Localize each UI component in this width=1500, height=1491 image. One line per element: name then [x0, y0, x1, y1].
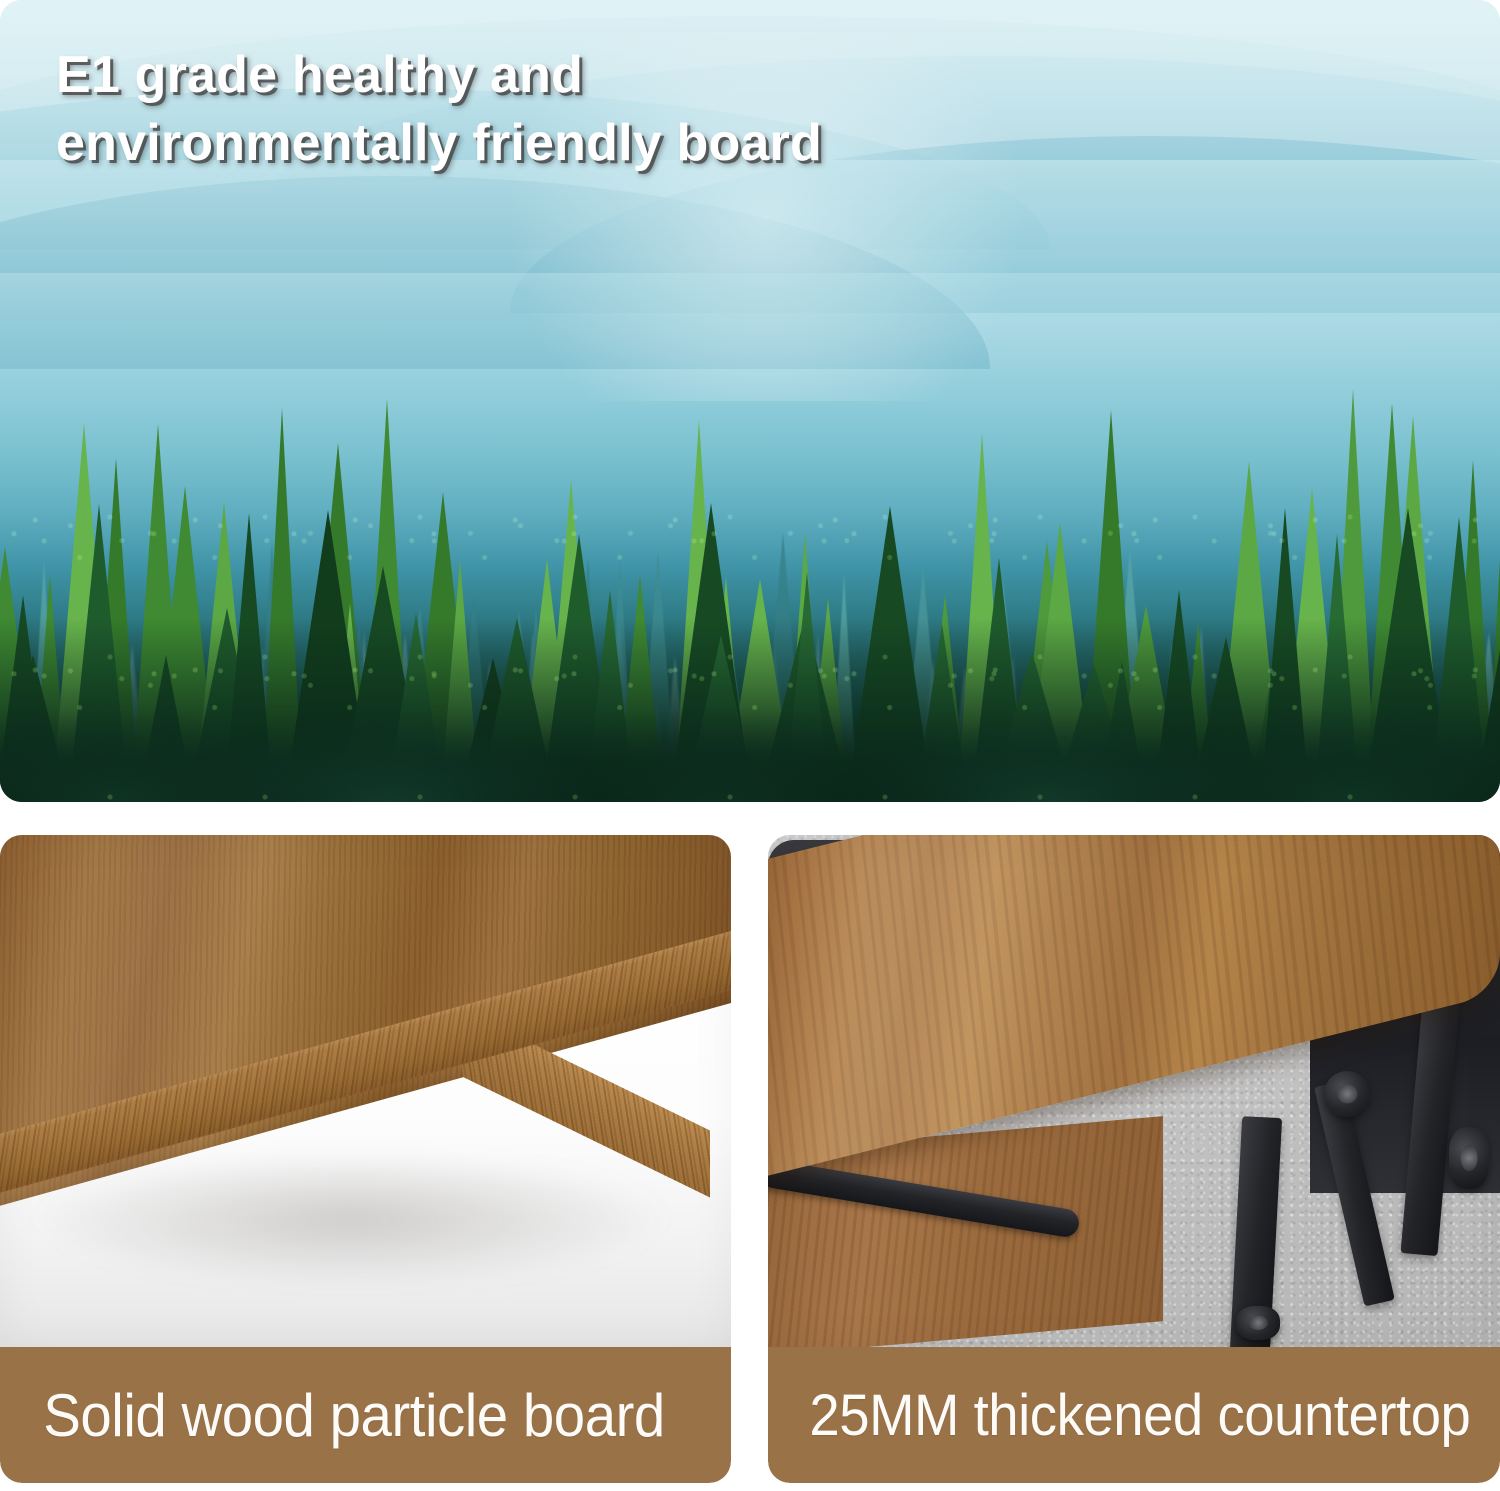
caster-hub-icon — [1249, 1316, 1267, 1330]
caption-bar-left: Solid wood particle board — [0, 1347, 731, 1483]
feature-panels: Solid wood particle board — [0, 835, 1500, 1485]
hero-headline: E1 grade healthy and environmentally fri… — [56, 42, 1116, 177]
caster-wheel-right — [1449, 1127, 1489, 1189]
caster-wheel-front — [1236, 1306, 1280, 1340]
caster-hub-icon — [1338, 1084, 1357, 1103]
product-feature-board: E1 grade healthy and environmentally fri… — [0, 0, 1500, 1491]
caption-text-left: Solid wood particle board — [0, 1381, 665, 1450]
board-scene-background — [0, 835, 731, 1347]
desk-scene-background — [768, 835, 1500, 1347]
wood-board-photo — [0, 835, 731, 1347]
desk-photo — [768, 835, 1500, 1347]
caption-text-right: 25MM thickened countertop — [768, 1382, 1470, 1449]
panel-thickened-countertop: 25MM thickened countertop — [768, 835, 1500, 1483]
caster-wheel-center — [1324, 1071, 1370, 1117]
caster-hub-icon — [1460, 1145, 1477, 1171]
forest-hero-image: E1 grade healthy and environmentally fri… — [0, 0, 1500, 802]
forest-floor — [0, 618, 1500, 802]
caption-bar-right: 25MM thickened countertop — [768, 1347, 1500, 1483]
panel-solid-wood-particle-board: Solid wood particle board — [0, 835, 731, 1483]
board-drop-shadow — [29, 1152, 672, 1285]
